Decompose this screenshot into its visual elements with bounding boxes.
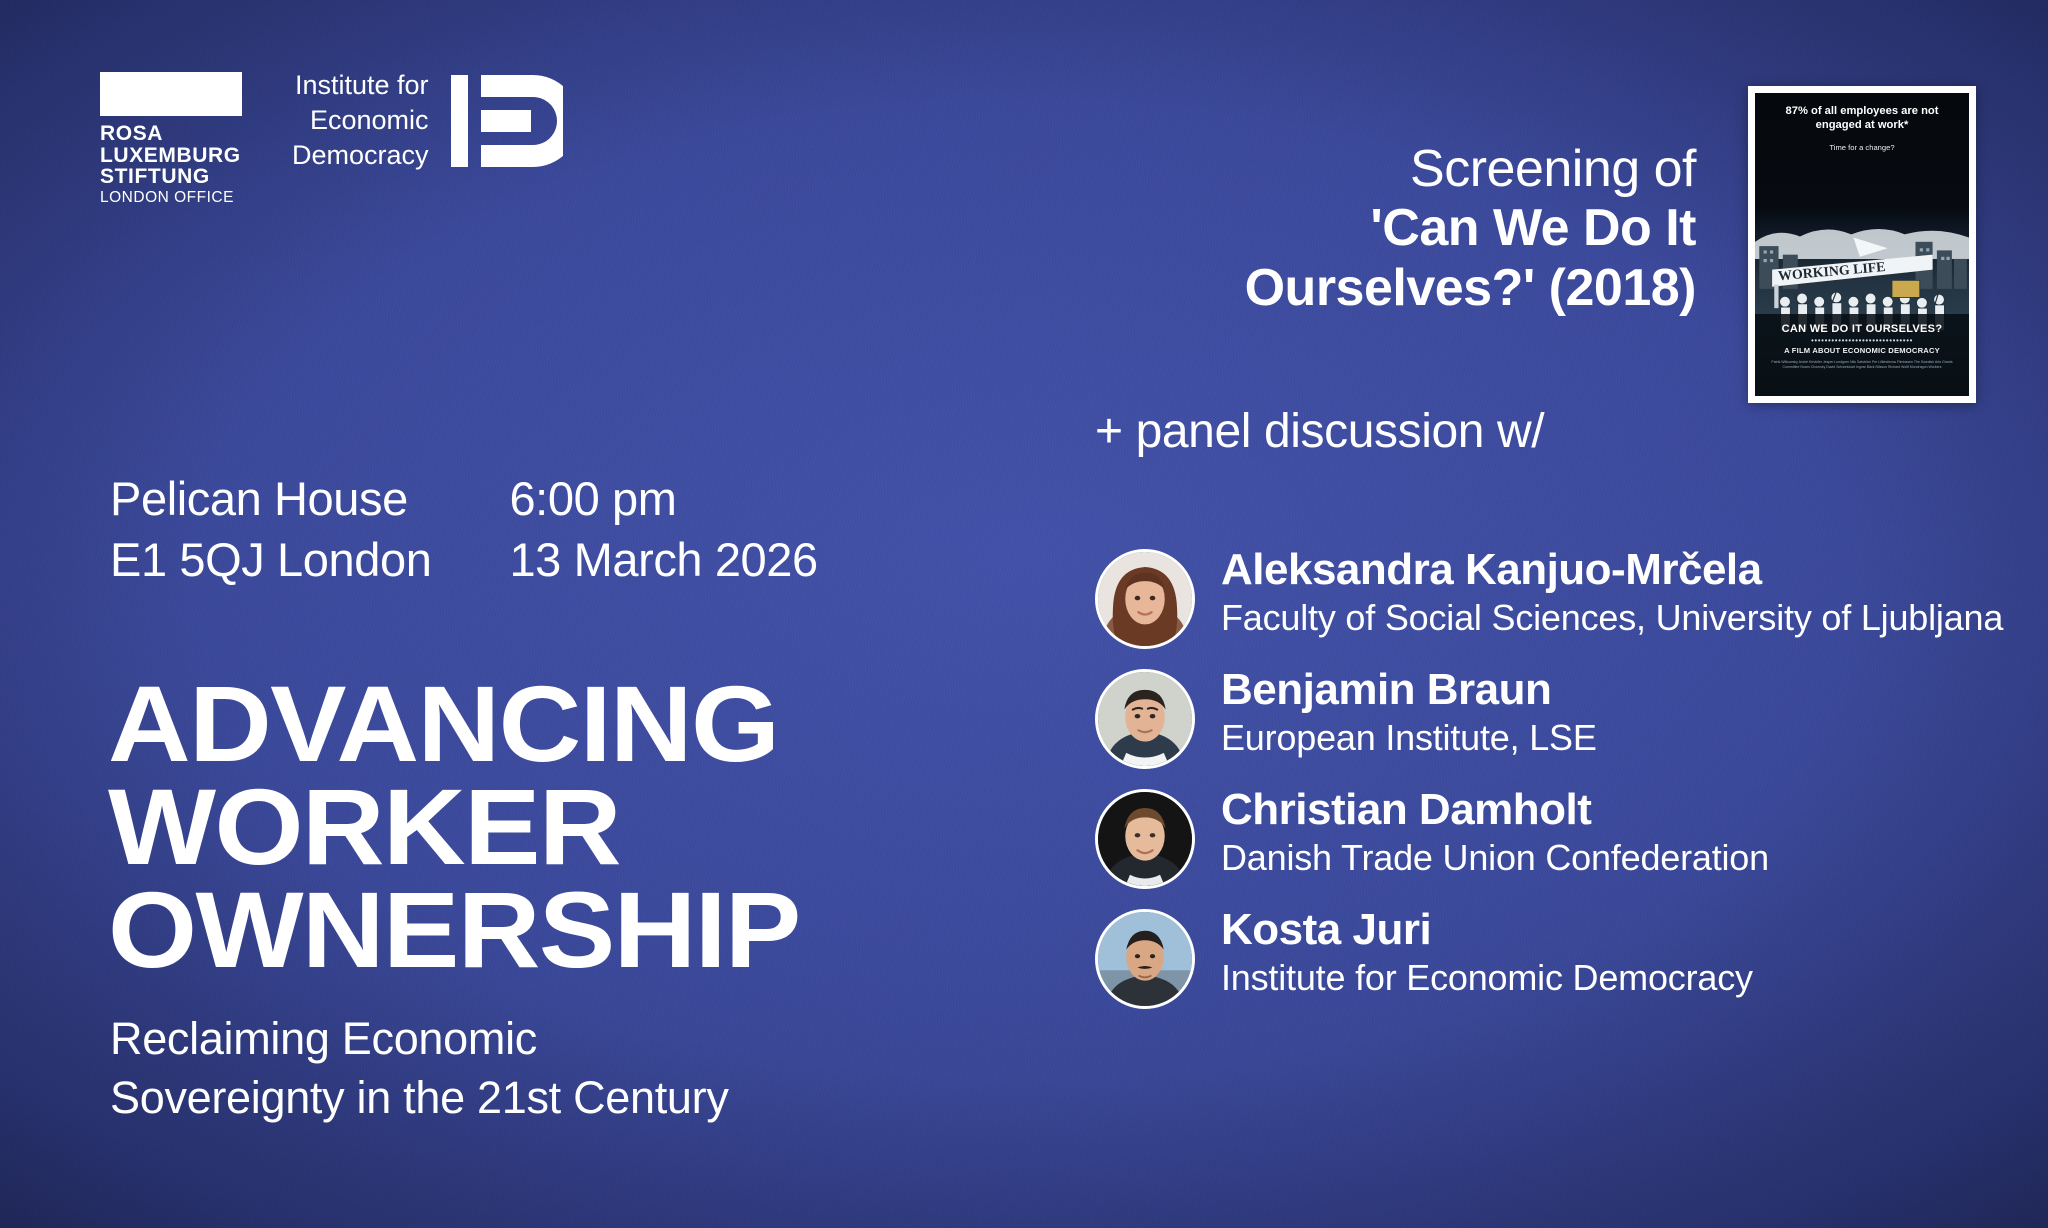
panelist-info: Benjamin Braun European Institute, LSE: [1221, 665, 1597, 759]
panelist-name: Christian Damholt: [1221, 787, 1769, 834]
panelist-affiliation: Institute for Economic Democracy: [1221, 957, 1753, 999]
rls-wordmark: ROSA LUXEMBURG STIFTUNG LONDON OFFICE: [100, 123, 242, 206]
ied-line-2: Economic: [292, 103, 429, 138]
avatar-benjamin: [1095, 669, 1195, 769]
panelist-name: Benjamin Braun: [1221, 667, 1597, 714]
film-poster-subline: Time for a change?: [1764, 143, 1960, 152]
list-item: Benjamin Braun European Institute, LSE: [1095, 665, 2003, 769]
panelist-name: Kosta Juri: [1221, 907, 1753, 954]
list-item: Christian Damholt Danish Trade Union Con…: [1095, 785, 2003, 889]
datetime-block: 6:00 pm 13 March 2026: [509, 468, 817, 590]
panelist-affiliation: Danish Trade Union Confederation: [1221, 837, 1769, 879]
page-title: ADVANCING WORKER OWNERSHIP: [108, 672, 800, 981]
avatar-kosta: [1095, 909, 1195, 1009]
avatar-aleksandra: [1095, 549, 1195, 649]
list-item: Kosta Juri Institute for Economic Democr…: [1095, 905, 2003, 1009]
rls-line-3: STIFTUNG: [100, 166, 242, 188]
film-poster-title: CAN WE DO IT OURSELVES?: [1755, 323, 1969, 335]
venue-name: Pelican House: [110, 468, 431, 529]
list-item: Aleksandra Kanjuo-Mrčela Faculty of Soci…: [1095, 545, 2003, 649]
rosa-luxemburg-stiftung-logo: ROSA LUXEMBURG STIFTUNG LONDON OFFICE: [100, 72, 242, 206]
panelist-info: Christian Damholt Danish Trade Union Con…: [1221, 785, 1769, 879]
headline-line-2: WORKER: [108, 775, 800, 878]
screening-lead: Screening of: [1245, 140, 1696, 199]
panelist-list: Aleksandra Kanjuo-Mrčela Faculty of Soci…: [1095, 545, 2003, 1009]
ied-line-3: Democracy: [292, 138, 429, 173]
panelist-info: Aleksandra Kanjuo-Mrčela Faculty of Soci…: [1221, 545, 2003, 639]
panelist-affiliation: Faculty of Social Sciences, University o…: [1221, 597, 2003, 639]
event-time: 6:00 pm: [509, 468, 817, 529]
ied-wordmark: Institute for Economic Democracy: [292, 68, 429, 173]
page-subtitle: Reclaiming Economic Sovereignty in the 2…: [110, 1010, 729, 1127]
headline-line-1: ADVANCING: [108, 672, 800, 775]
headline-line-3: OWNERSHIP: [108, 878, 800, 981]
subtitle-line-1: Reclaiming Economic: [110, 1010, 729, 1069]
film-poster-thumbnail: 87% of all employees are not engaged at …: [1748, 86, 1976, 403]
venue-address: E1 5QJ London: [110, 529, 431, 590]
film-poster-footer: CAN WE DO IT OURSELVES? ••••••••••••••••…: [1755, 314, 1969, 396]
venue-block: Pelican House E1 5QJ London: [110, 468, 431, 590]
screening-heading: Screening of 'Can We Do It Ourselves?' (…: [1245, 140, 1696, 318]
avatar-christian: [1095, 789, 1195, 889]
film-poster-credits: Patrik Witkowsky André Kristófer Jesper …: [1755, 360, 1969, 371]
film-poster-headline: 87% of all employees are not engaged at …: [1755, 93, 1969, 152]
panelist-affiliation: European Institute, LSE: [1221, 717, 1597, 759]
avatar-image: [1098, 912, 1192, 1006]
logo-row: ROSA LUXEMBURG STIFTUNG LONDON OFFICE In…: [100, 72, 563, 206]
film-poster-stat: 87% of all employees are not engaged at …: [1764, 105, 1960, 132]
avatar-image: [1098, 672, 1192, 766]
rls-line-1: ROSA: [100, 123, 242, 145]
panel-discussion-label: + panel discussion w/: [1095, 404, 1544, 459]
ied-line-1: Institute for: [292, 68, 429, 103]
film-poster-artwork: 87% of all employees are not engaged at …: [1755, 93, 1969, 396]
film-poster-divider: ••••••••••••••••••••••••••••••: [1755, 336, 1969, 345]
film-poster-tagline: A FILM ABOUT ECONOMIC DEMOCRACY: [1755, 346, 1969, 355]
event-poster: ROSA LUXEMBURG STIFTUNG LONDON OFFICE In…: [0, 0, 2048, 1228]
event-date: 13 March 2026: [509, 529, 817, 590]
avatar-image: [1098, 552, 1192, 646]
film-title-line-2: Ourselves?' (2018): [1245, 259, 1696, 318]
rls-block-icon: [100, 72, 242, 116]
panelist-info: Kosta Juri Institute for Economic Democr…: [1221, 905, 1753, 999]
rls-line-2: LUXEMBURG: [100, 145, 242, 167]
institute-for-economic-democracy-logo: Institute for Economic Democracy: [292, 68, 563, 173]
panelist-name: Aleksandra Kanjuo-Mrčela: [1221, 547, 2003, 594]
ied-monogram-icon: [451, 75, 563, 167]
subtitle-line-2: Sovereignty in the 21st Century: [110, 1069, 729, 1128]
rls-line-4: LONDON OFFICE: [100, 190, 242, 206]
venue-and-date: Pelican House E1 5QJ London 6:00 pm 13 M…: [110, 468, 818, 590]
film-title-line-1: 'Can We Do It: [1245, 199, 1696, 258]
avatar-image: [1098, 792, 1192, 886]
